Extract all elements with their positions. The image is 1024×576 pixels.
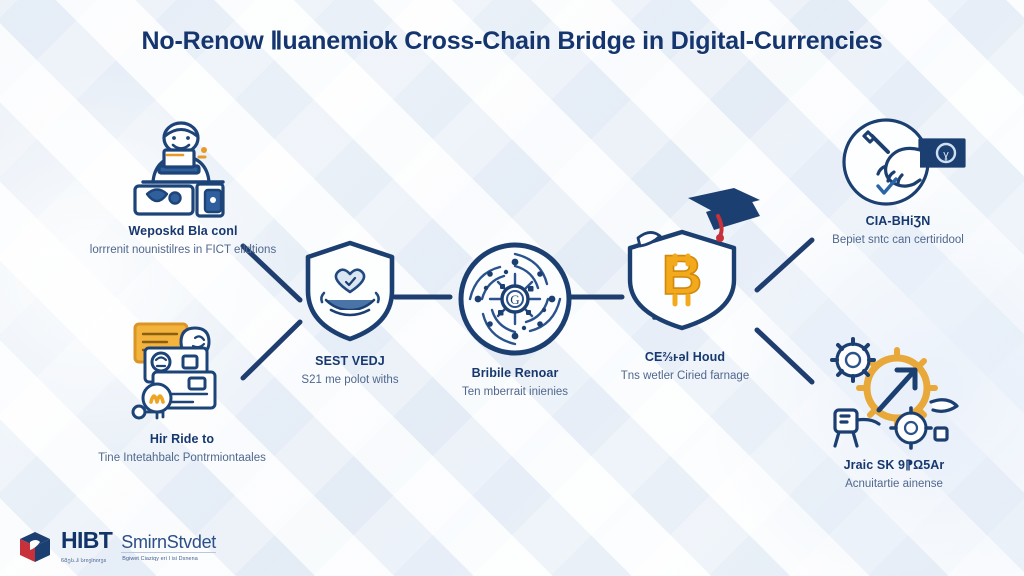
hand-tag-circle-icon: ɣ	[828, 112, 968, 208]
branch-top-right[interactable]: ɣ CIA-BHiƷN Bepiet sntc can certiridool	[798, 112, 998, 248]
branch-top-right-title: CIA-BHiƷN	[798, 214, 998, 230]
branch-top-right-subtitle: Bepiet sntc can certiridool	[798, 233, 998, 248]
footer-microtext-left: 6Გეს.ჰ სrიეlnიrეs	[61, 556, 106, 564]
branch-bottom-left-title: Hir Ride to	[62, 432, 302, 448]
node-network-hub[interactable]: G Bribile Renoar Ten mberrait inienies	[428, 240, 602, 400]
svg-text:B: B	[662, 243, 702, 306]
brand-name: HIBT	[61, 529, 112, 552]
gears-arrow-person-icon	[819, 336, 969, 452]
brand-tagline: SmirnStvdet	[121, 533, 216, 553]
node-bitcoin-education[interactable]: B CE⅔ⱶəl Houd Tns wetler Ciried farnage	[592, 190, 778, 384]
node-shield-title: SEST VEDJ	[265, 354, 435, 370]
node-shield-protect[interactable]: SEST VEDJ S21 me polot withs	[265, 238, 435, 388]
person-laptop-desk-icon	[123, 110, 243, 218]
infographic-canvas: No-Renow Ⅱuanemiok Cross-Chain Bridge in…	[0, 0, 1024, 576]
svg-text:G: G	[510, 292, 519, 307]
shield-heart-hands-icon	[298, 238, 402, 344]
node-network-title: Bribile Renoar	[428, 366, 602, 382]
node-network-subtitle: Ten mberrait inienies	[428, 385, 602, 400]
branch-top-left-title: Weposkd Bla conl	[68, 224, 298, 240]
footer-microtext-right: Bgiwet Ciaziqy eri I isi Dsnena	[122, 556, 198, 564]
svg-text:ɣ: ɣ	[943, 149, 949, 161]
branch-bottom-right[interactable]: Jraic SK 9⁋Ω5Ar Acnuitartie ainense	[786, 336, 1002, 492]
branch-top-left-subtitle: lorrrenit nounistilres in FICT eildtions	[68, 243, 298, 258]
node-shield-subtitle: S21 me polot withs	[265, 373, 435, 388]
document-card-key-icon	[121, 314, 243, 426]
branch-bottom-left-subtitle: Tine Intetahbalc Pontrmiontaales	[62, 451, 302, 466]
branch-bottom-right-subtitle: Acnuitartie ainense	[786, 477, 1002, 492]
branch-bottom-right-title: Jraic SK 9⁋Ω5Ar	[786, 458, 1002, 474]
bitcoin-shield-graduation-icon: B	[610, 190, 760, 348]
node-bitcoin-title: CE⅔ⱶəl Houd	[592, 350, 778, 366]
hibt-cube-logo-icon	[18, 530, 52, 564]
footer-branding[interactable]: HIBT SmirnStvdet 6Გეს.ჰ სrიეlnიrეs Bgiwe…	[18, 529, 216, 564]
node-bitcoin-subtitle: Tns wetler Ciried farnage	[592, 369, 778, 384]
blockchain-network-circle-icon: G	[456, 240, 574, 358]
branch-top-left[interactable]: Weposkd Bla conl lorrrenit nounistilres …	[68, 110, 298, 258]
